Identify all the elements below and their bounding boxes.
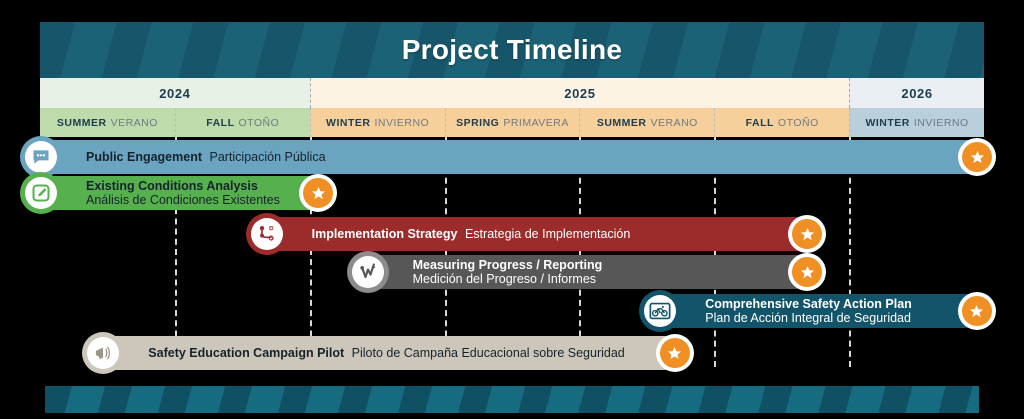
task-bar-implementation-strategy[interactable]: Implementation Strategy Estrategia de Im… [266,217,814,251]
task-label-es: Análisis de Condiciones Existentes [86,193,280,207]
season-label-en: SUMMER [57,117,107,129]
page-title: Project Timeline [40,22,984,78]
task-label-line1: Measuring Progress / Reporting [413,258,603,272]
task-label-public-engagement: Public Engagement Participación Pública [40,150,360,164]
year-label: 2026 [901,86,932,101]
task-bar-existing-conditions-analysis[interactable]: Existing Conditions AnalysisAnálisis de … [40,176,325,210]
task-bar-safety-education-campaign-pilot[interactable]: Safety Education Campaign Pilot Piloto d… [102,336,682,370]
task-label-en: Existing Conditions Analysis [86,179,258,193]
milestone-star-icon[interactable] [656,334,694,372]
season-label-en: SPRING [456,117,499,129]
milestone-star-icon[interactable] [788,215,826,253]
season-label-es: INVIERNO [374,117,429,129]
year-cell-2026: 2026 [849,78,984,108]
season-label-es: OTOÑO [238,117,279,129]
task-label-en: Comprehensive Safety Action Plan [705,297,912,311]
icon-glyph [352,256,384,288]
season-label-es: VERANO [111,117,158,129]
task-label-implementation-strategy: Implementation Strategy Estrategia de Im… [266,227,665,241]
footer-strip [45,386,979,413]
task-bar-public-engagement[interactable]: Public Engagement Participación Pública [40,140,984,174]
star-glyph [792,257,822,287]
year-cell-2024: 2024 [40,78,310,108]
year-cell-2025: 2025 [310,78,849,108]
task-label-line2: Medición del Progreso / Informes [413,272,603,286]
milestone-star-icon[interactable] [788,253,826,291]
star-glyph [792,219,822,249]
season-label-en: FALL [206,117,234,129]
season-cell-winter-2: WINTERINVIERNO [310,108,445,137]
task-label-en: Safety Education Campaign Pilot [148,346,344,360]
task-label-es: Estrategia de Implementación [465,227,630,241]
task-label-es: Participación Pública [209,150,325,164]
star-glyph [962,296,992,326]
task-label-line1: Comprehensive Safety Action Plan [705,297,912,311]
task-bar-measuring-progress-reporting[interactable]: Measuring Progress / ReportingMedición d… [367,255,814,289]
season-label-es: INVIERNO [914,117,969,129]
star-glyph [962,142,992,172]
season-label-en: SUMMER [597,117,647,129]
task-label-es: Piloto de Campaña Educacional sobre Segu… [352,346,625,360]
megaphone-icon [82,332,124,374]
star-glyph [660,338,690,368]
task-bar-comprehensive-safety-action-plan[interactable]: Comprehensive Safety Action PlanPlan de … [659,294,984,328]
year-header-row: 202420252026 [40,78,984,108]
task-label-comprehensive-safety-action-plan: Comprehensive Safety Action PlanPlan de … [659,297,946,326]
season-cell-winter-6: WINTERINVIERNO [849,108,984,137]
icon-glyph [25,177,57,209]
season-cell-fall-5: FALLOTOÑO [714,108,849,137]
year-label: 2025 [564,86,595,101]
header-banner: Project Timeline [40,22,984,78]
task-label-safety-education-campaign-pilot: Safety Education Campaign Pilot Piloto d… [102,346,658,360]
chart-arrow-icon [347,251,389,293]
season-label-en: WINTER [865,117,909,129]
season-cell-summer-0: SUMMERVERANO [40,108,175,137]
season-label-en: WINTER [326,117,370,129]
season-label-en: FALL [746,117,774,129]
season-label-es: VERANO [651,117,698,129]
icon-glyph [87,337,119,369]
icon-glyph [251,218,283,250]
task-label-line2: Plan de Acción Integral de Seguridad [705,311,912,325]
season-header-row: SUMMERVERANOFALLOTOÑOWINTERINVIERNOSPRIN… [40,108,984,137]
task-label-es: Plan de Acción Integral de Seguridad [705,311,911,325]
icon-glyph [644,295,676,327]
milestone-star-icon[interactable] [958,292,996,330]
timeline-infographic: Project Timeline 202420252026 SUMMERVERA… [0,0,1024,419]
strategy-nodes-icon [246,213,288,255]
edit-square-icon [20,172,62,214]
task-label-measuring-progress-reporting: Measuring Progress / ReportingMedición d… [367,258,637,287]
task-label-es: Medición del Progreso / Informes [413,272,596,286]
star-glyph [303,178,333,208]
season-cell-fall-1: FALLOTOÑO [175,108,310,137]
task-label-en: Public Engagement [86,150,202,164]
task-label-line2: Análisis de Condiciones Existentes [86,193,280,207]
season-label-es: PRIMAVERA [503,117,569,129]
season-cell-spring-3: SPRINGPRIMAVERA [445,108,580,137]
season-cell-summer-4: SUMMERVERANO [579,108,714,137]
year-label: 2024 [159,86,190,101]
task-label-line1: Existing Conditions Analysis [86,179,280,193]
milestone-star-icon[interactable] [299,174,337,212]
icon-glyph [25,141,57,173]
season-label-es: OTOÑO [778,117,819,129]
milestone-star-icon[interactable] [958,138,996,176]
task-label-existing-conditions-analysis: Existing Conditions AnalysisAnálisis de … [40,179,314,208]
task-label-en: Implementation Strategy [312,227,458,241]
task-label-en: Measuring Progress / Reporting [413,258,603,272]
bicycle-sign-icon [639,290,681,332]
